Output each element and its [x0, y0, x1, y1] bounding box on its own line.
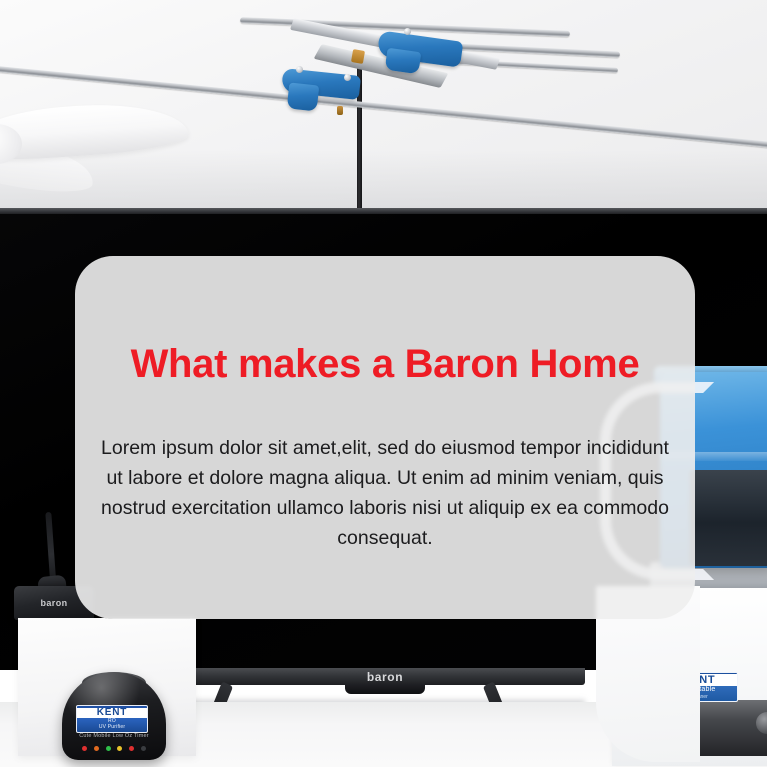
kent-dome-tagline: Cute Mobile Low Oz Timer — [62, 733, 166, 739]
dome-device-led-row — [82, 746, 146, 752]
antenna-screw-b — [404, 28, 411, 35]
wall-shadow — [0, 150, 767, 212]
kent-dome-badge-brand: KENT — [77, 708, 147, 718]
antenna-brass-connector — [351, 49, 365, 64]
led-off — [141, 746, 146, 751]
led-red-2 — [129, 746, 134, 751]
body-paragraph: Lorem ipsum dolor sit amet,elit, sed do … — [99, 433, 671, 553]
led-red — [82, 746, 87, 751]
overlay-text-card: What makes a Baron Home Lorem ipsum dolo… — [75, 256, 695, 619]
led-green — [106, 746, 111, 751]
antenna-screw-c — [344, 74, 351, 81]
antenna-brass-connector-lower — [337, 106, 343, 115]
kent-dome-badge-sub2: UV Purifier — [99, 724, 125, 730]
tv-ir-notch — [345, 684, 425, 694]
led-orange — [94, 746, 99, 751]
tv-brand-logo: baron — [185, 668, 585, 685]
page-title: What makes a Baron Home — [75, 341, 695, 387]
banner-canvas: baron baron KENT Vegetable Cleaner KENT … — [0, 0, 767, 767]
antenna-screw-a — [296, 66, 303, 73]
antenna-blue-clamp-lower-foot — [287, 83, 320, 112]
led-yellow — [117, 746, 122, 751]
kent-dome-badge: KENT RO UV Purifier — [76, 705, 148, 733]
